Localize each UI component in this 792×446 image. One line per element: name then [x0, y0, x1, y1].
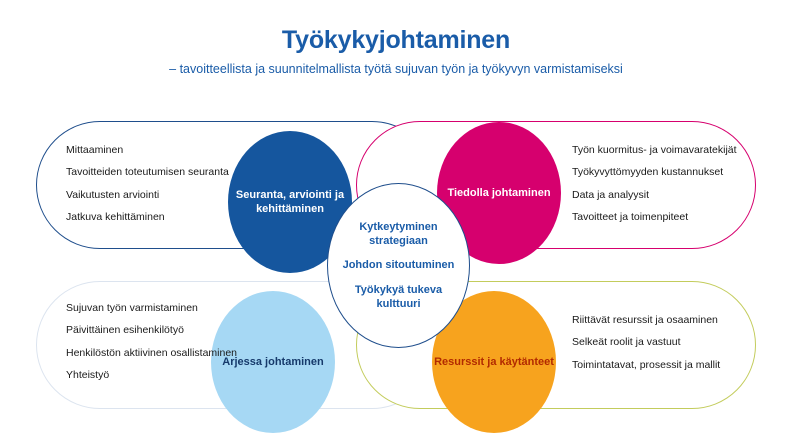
bullets-resurssit: Riittävät resurssit ja osaaminen Selkeät…	[572, 314, 777, 372]
bullets-seuranta: Mittaaminen Tavoitteiden toteutumisen se…	[66, 144, 246, 225]
bullet-item: Mittaaminen	[66, 144, 246, 157]
bullets-tiedolla: Työn kuormitus- ja voimavaratekijät Työk…	[572, 144, 772, 225]
bullet-item: Päivittäinen esihenkilötyö	[66, 324, 251, 337]
bullets-arjessa: Sujuvan työn varmistaminen Päivittäinen …	[66, 302, 251, 383]
lobe-label-resurssit: Resurssit ja käytänteet	[434, 355, 554, 369]
bullet-item: Jatkuva kehittäminen	[66, 211, 246, 224]
core-line-1: Kytkeytyminen strategiaan	[336, 220, 461, 249]
page-subtitle: – tavoitteellista ja suunnitelmallista t…	[0, 62, 792, 76]
core-line-2: Johdon sitoutuminen	[343, 258, 455, 272]
bullet-item: Tavoitteet ja toimenpiteet	[572, 211, 772, 224]
bullet-item: Selkeät roolit ja vastuut	[572, 336, 777, 349]
bullet-item: Riittävät resurssit ja osaaminen	[572, 314, 777, 327]
lobe-label-tiedolla: Tiedolla johtaminen	[447, 186, 550, 200]
bullet-item: Yhteistyö	[66, 369, 251, 382]
bullet-item: Vaikutusten arviointi	[66, 189, 246, 202]
bullet-item: Henkilöstön aktiivinen osallistaminen	[66, 347, 251, 360]
bullet-item: Sujuvan työn varmistaminen	[66, 302, 251, 315]
bullet-item: Työkyvyttömyyden kustannukset	[572, 166, 772, 179]
lobe-label-seuranta: Seuranta, arviointi ja kehittäminen	[228, 188, 352, 217]
bullet-item: Data ja analyysit	[572, 189, 772, 202]
bullet-item: Tavoitteiden toteutumisen seuranta	[66, 166, 246, 179]
bullet-item: Työn kuormitus- ja voimavaratekijät	[572, 144, 772, 157]
core-ellipse: Kytkeytyminen strategiaan Johdon sitoutu…	[327, 183, 470, 348]
page-title: Työkykyjohtaminen	[0, 26, 792, 55]
bullet-item: Toimintatavat, prosessit ja mallit	[572, 359, 777, 372]
core-line-3: Työkykyä tukeva kulttuuri	[336, 283, 461, 312]
infographic-canvas: Työkykyjohtaminen – tavoitteellista ja s…	[0, 0, 792, 446]
